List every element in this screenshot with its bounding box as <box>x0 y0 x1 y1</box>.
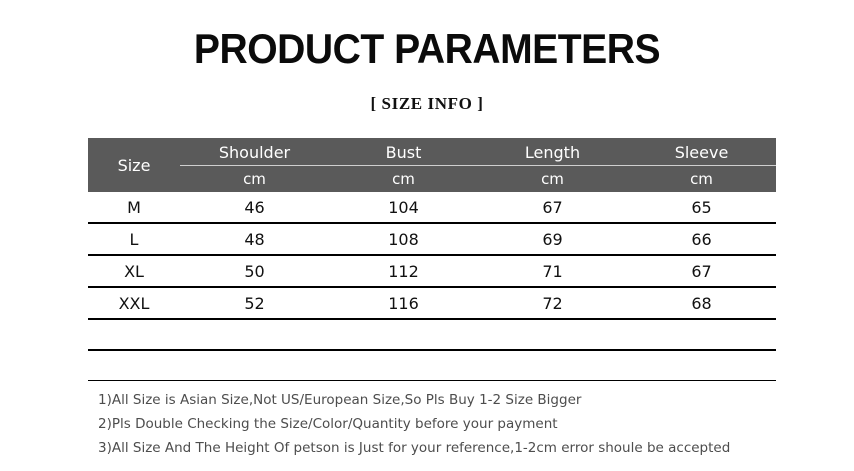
cell-shoulder: 46 <box>180 192 329 223</box>
cell-sleeve: 66 <box>627 223 776 255</box>
cell-bust: 116 <box>329 287 478 319</box>
cell-empty <box>88 319 180 350</box>
table-row: XXL 52 116 72 68 <box>88 287 776 319</box>
page-title: PRODUCT PARAMETERS <box>30 26 824 72</box>
cell-empty <box>478 319 627 350</box>
cell-empty <box>627 319 776 350</box>
cell-size: M <box>88 192 180 223</box>
product-parameters-page: PRODUCT PARAMETERS [ SIZE INFO ] Size Sh… <box>0 0 854 471</box>
column-header-shoulder-label: Shoulder <box>180 138 329 166</box>
footnote-3: 3)All Size And The Height Of petson is J… <box>98 436 798 460</box>
cell-empty <box>329 319 478 350</box>
size-info-table: Size Shoulder cm Bust cm <box>88 138 776 381</box>
size-table-container: Size Shoulder cm Bust cm <box>88 138 776 381</box>
cell-size: XXL <box>88 287 180 319</box>
cell-sleeve: 65 <box>627 192 776 223</box>
column-header-shoulder-unit: cm <box>180 166 329 192</box>
column-header-sleeve-label: Sleeve <box>627 138 776 166</box>
table-row: L 48 108 69 66 <box>88 223 776 255</box>
size-info-subtitle: [ SIZE INFO ] <box>0 93 854 115</box>
table-row: XL 50 112 71 67 <box>88 255 776 287</box>
cell-length: 72 <box>478 287 627 319</box>
cell-empty <box>180 319 329 350</box>
column-header-sleeve-unit: cm <box>627 166 776 192</box>
column-header-bust-label: Bust <box>329 138 478 166</box>
table-empty-row <box>88 350 776 381</box>
cell-empty <box>627 350 776 381</box>
cell-empty <box>88 350 180 381</box>
footnote-2: 2)Pls Double Checking the Size/Color/Qua… <box>98 412 798 436</box>
cell-length: 71 <box>478 255 627 287</box>
cell-length: 69 <box>478 223 627 255</box>
column-header-length: Length cm <box>478 138 627 192</box>
table-header-row: Size Shoulder cm Bust cm <box>88 138 776 192</box>
column-header-sleeve: Sleeve cm <box>627 138 776 192</box>
column-header-shoulder: Shoulder cm <box>180 138 329 192</box>
cell-sleeve: 67 <box>627 255 776 287</box>
table-row: M 46 104 67 65 <box>88 192 776 223</box>
cell-size: L <box>88 223 180 255</box>
column-header-length-label: Length <box>478 138 627 166</box>
cell-shoulder: 48 <box>180 223 329 255</box>
column-header-bust-unit: cm <box>329 166 478 192</box>
cell-size: XL <box>88 255 180 287</box>
footnotes: 1)All Size is Asian Size,Not US/European… <box>98 388 798 460</box>
column-header-length-unit: cm <box>478 166 627 192</box>
cell-sleeve: 68 <box>627 287 776 319</box>
cell-shoulder: 50 <box>180 255 329 287</box>
cell-shoulder: 52 <box>180 287 329 319</box>
cell-bust: 108 <box>329 223 478 255</box>
cell-length: 67 <box>478 192 627 223</box>
cell-bust: 104 <box>329 192 478 223</box>
table-empty-row <box>88 319 776 350</box>
cell-bust: 112 <box>329 255 478 287</box>
footnote-1: 1)All Size is Asian Size,Not US/European… <box>98 388 798 412</box>
column-header-bust: Bust cm <box>329 138 478 192</box>
cell-empty <box>180 350 329 381</box>
column-header-size: Size <box>88 138 180 192</box>
cell-empty <box>329 350 478 381</box>
cell-empty <box>478 350 627 381</box>
